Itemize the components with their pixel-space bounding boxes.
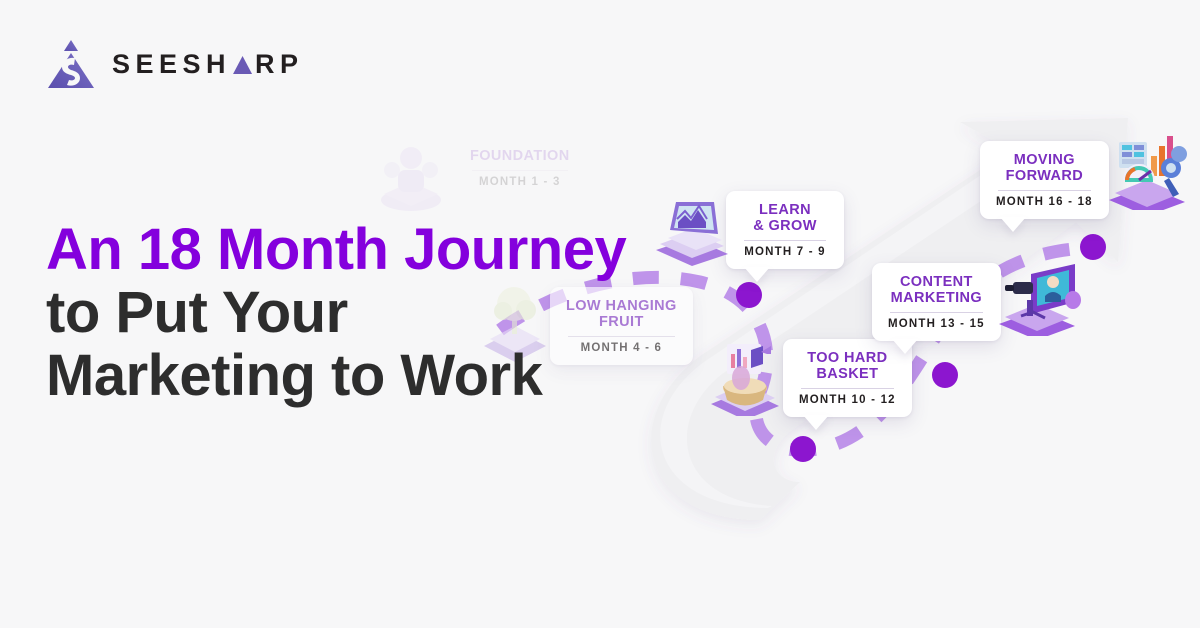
card-pointer [1000, 217, 1026, 232]
headline-line-2: to Put Your [46, 281, 686, 344]
poster-canvas: SEESH RP An 18 Month Journey to Put Your… [0, 0, 1200, 628]
milestone-title: CONTENT MARKETING [888, 274, 985, 306]
milestone-month: MONTH 13 - 15 [888, 318, 985, 330]
dashboard-gauge-gear-icon [1101, 130, 1193, 210]
milestone-month: MONTH 1 - 3 [470, 176, 570, 188]
milestone-moving-forward[interactable]: MOVING FORWARD MONTH 16 - 18 [980, 140, 1200, 220]
brand-name-part2: RP [255, 51, 304, 78]
milestone-dot-moving-forward [1080, 234, 1106, 260]
brand-name-part1: SEESH [112, 51, 231, 78]
milestone-dot-learn-and-grow [736, 282, 762, 308]
card-divider [801, 388, 894, 389]
card-divider [890, 312, 983, 313]
milestone-card-content-marketing[interactable]: CONTENT MARKETING MONTH 13 - 15 [872, 263, 1001, 341]
card-divider [744, 240, 826, 241]
video-camera-studio-icon [991, 256, 1083, 336]
brand-wordmark: SEESH RP [112, 51, 304, 78]
basket-documents-icon [703, 336, 789, 416]
people-foundation-icon [368, 134, 454, 214]
milestone-month: MONTH 7 - 9 [742, 246, 828, 258]
milestone-card-learn-and-grow[interactable]: LEARN & GROW MONTH 7 - 9 [726, 191, 844, 269]
milestone-title: TOO HARD BASKET [799, 350, 896, 382]
card-pointer [744, 267, 770, 282]
seesharp-triangle-logo [44, 38, 98, 90]
milestone-too-hard-basket[interactable]: TOO HARD BASKET MONTH 10 - 12 [703, 338, 912, 418]
headline-line-1: An 18 Month Journey [46, 218, 686, 281]
brand-logo[interactable]: SEESH RP [44, 38, 304, 90]
card-divider [472, 170, 568, 171]
card-pointer [892, 339, 918, 354]
card-divider [998, 190, 1091, 191]
milestone-card-moving-forward[interactable]: MOVING FORWARD MONTH 16 - 18 [980, 141, 1109, 219]
milestone-card-foundation[interactable]: FOUNDATION MONTH 1 - 3 [454, 137, 586, 199]
milestone-month: MONTH 16 - 18 [996, 196, 1093, 208]
milestone-foundation[interactable]: FOUNDATION MONTH 1 - 3 [368, 128, 586, 208]
milestone-title: MOVING FORWARD [996, 152, 1093, 184]
milestone-dot-content-marketing [932, 362, 958, 388]
card-pointer [803, 415, 829, 430]
milestone-title: LEARN & GROW [742, 202, 828, 234]
milestone-title: FOUNDATION [470, 148, 570, 164]
page-title: An 18 Month Journey to Put Your Marketin… [46, 218, 686, 408]
milestone-content-marketing[interactable]: CONTENT MARKETING MONTH 13 - 15 [872, 262, 1093, 342]
headline-line-3: Marketing to Work [46, 344, 686, 407]
brand-letter-a-triangle [233, 56, 252, 74]
milestone-month: MONTH 10 - 12 [799, 394, 896, 406]
milestone-dot-too-hard-basket [790, 436, 816, 462]
